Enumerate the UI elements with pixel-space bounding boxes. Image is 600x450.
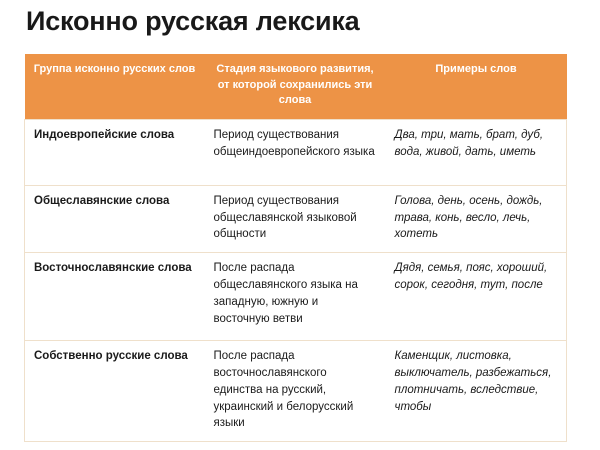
lexicon-table-container: Группа исконно русских слов Стадия языко… (24, 54, 566, 442)
table-header-row: Группа исконно русских слов Стадия языко… (25, 54, 567, 119)
cell-stage: Период существования общеславянской язык… (205, 185, 386, 252)
cell-stage-text: После распада общеславянского языка на з… (214, 260, 377, 327)
cell-group: Индоевропейские слова (25, 119, 205, 185)
table-row: Общеславянские слова Период существовани… (25, 185, 567, 252)
column-header-group: Группа исконно русских слов (25, 54, 205, 119)
cell-stage: После распада восточнославянского единст… (205, 341, 386, 442)
table-row: Индоевропейские слова Период существован… (25, 119, 567, 185)
cell-stage: Период существования общеиндоевропейског… (205, 119, 386, 185)
cell-stage-text: После распада восточнославянского единст… (214, 348, 377, 432)
lexicon-table: Группа исконно русских слов Стадия языко… (24, 54, 567, 442)
cell-group: Восточнославянские слова (25, 253, 205, 341)
slide: Исконно русская лексика Группа исконно р… (0, 0, 600, 450)
page-title: Исконно русская лексика (26, 6, 360, 37)
cell-examples: Два, три, мать, брат, дуб, вода, живой, … (386, 119, 567, 185)
cell-examples-text: Голова, день, осень, дождь, трава, конь,… (395, 193, 558, 243)
cell-stage: После распада общеславянского языка на з… (205, 253, 386, 341)
cell-examples: Дядя, семья, пояс, хороший, сорок, сегод… (386, 253, 567, 341)
cell-examples-text: Каменщик, листовка, выключатель, разбежа… (395, 348, 558, 415)
cell-examples: Голова, день, осень, дождь, трава, конь,… (386, 185, 567, 252)
table-body: Индоевропейские слова Период существован… (25, 119, 567, 441)
column-header-examples: Примеры слов (386, 54, 567, 119)
cell-group-text: Общеславянские слова (34, 193, 196, 210)
cell-stage-text: Период существования общеславянской язык… (214, 193, 377, 243)
table-header: Группа исконно русских слов Стадия языко… (25, 54, 567, 119)
cell-group: Общеславянские слова (25, 185, 205, 252)
cell-stage-text: Период существования общеиндоевропейског… (214, 127, 377, 161)
cell-group-text: Восточнославянские слова (34, 260, 196, 277)
cell-group-text: Собственно русские слова (34, 348, 196, 365)
table-row: Восточнославянские слова После распада о… (25, 253, 567, 341)
cell-examples-text: Дядя, семья, пояс, хороший, сорок, сегод… (395, 260, 558, 294)
column-header-stage: Стадия языкового развития, от которой со… (205, 54, 386, 119)
cell-examples-text: Два, три, мать, брат, дуб, вода, живой, … (395, 127, 558, 161)
table-row: Собственно русские слова После распада в… (25, 341, 567, 442)
cell-group: Собственно русские слова (25, 341, 205, 442)
cell-group-text: Индоевропейские слова (34, 127, 196, 144)
cell-examples: Каменщик, листовка, выключатель, разбежа… (386, 341, 567, 442)
